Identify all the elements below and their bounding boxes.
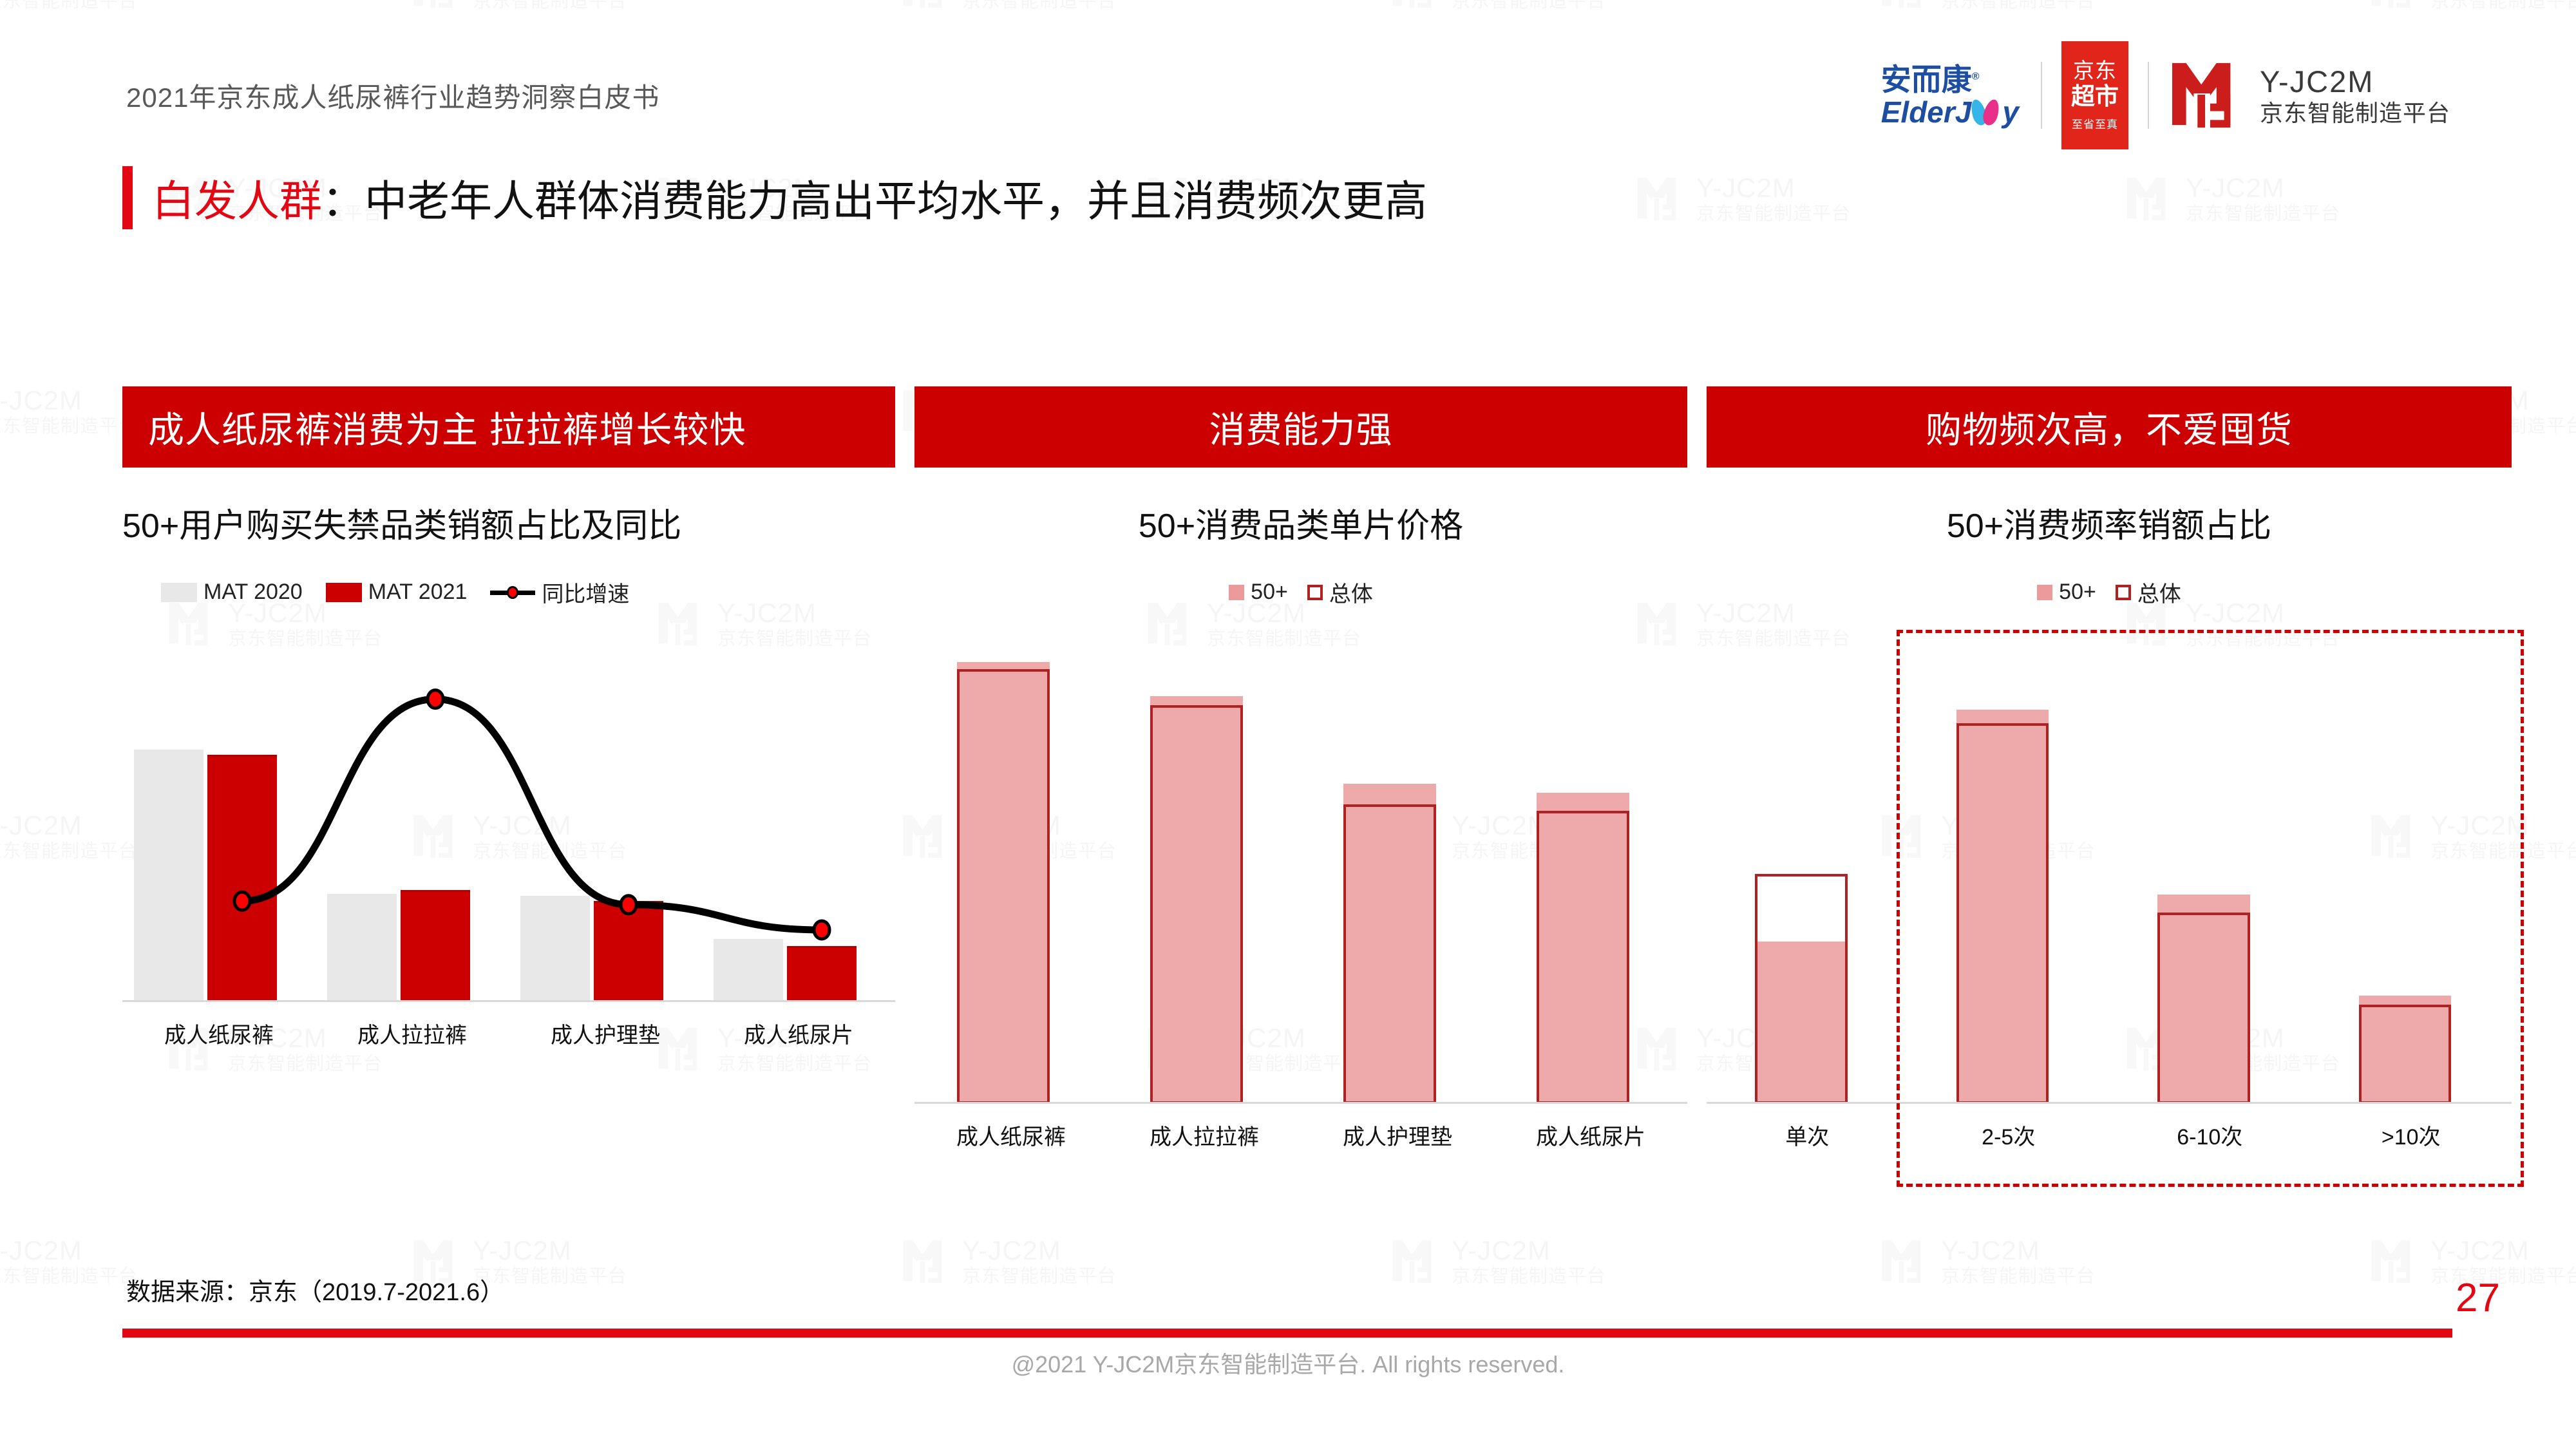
panel3-legend: 50+ 总体 bbox=[1707, 576, 2512, 608]
registered-trademark-icon: ® bbox=[1972, 71, 1980, 82]
legend-label-50plus-p3: 50+ bbox=[2059, 580, 2096, 605]
yjc2m-logo-text: Y-JC2M 京东智能制造平台 bbox=[2260, 66, 2450, 125]
copyright-note: @2021 Y-JC2M京东智能制造平台. All rights reserve… bbox=[0, 1346, 2576, 1379]
watermark-tile: Y-JC2M京东智能制造平台 bbox=[0, 1236, 138, 1287]
yjc2m-logo-line1: Y-JC2M bbox=[2260, 66, 2450, 97]
elderjoy-logo-cn: 安而康® bbox=[1881, 64, 2019, 95]
elderjoy-logo: 安而康® ElderJy bbox=[1881, 58, 2041, 133]
watermark-tile: Y-JC2M京东智能制造平台 bbox=[1636, 174, 1851, 224]
joy-swirl-icon bbox=[1972, 98, 2002, 126]
jd-logo-line1: 京东 bbox=[2073, 59, 2117, 82]
legend-item-50plus-p3: 50+ bbox=[2037, 580, 2096, 605]
chart-1-growth-line bbox=[122, 641, 895, 1002]
logo-divider-1 bbox=[2041, 62, 2042, 129]
panel2-legend: 50+ 总体 bbox=[914, 576, 1687, 608]
logo-divider-2 bbox=[2148, 62, 2149, 129]
chart-2-x-label: 成人纸尿片 bbox=[1494, 1119, 1687, 1151]
chart-3-x-label: 6-10次 bbox=[2109, 1119, 2311, 1151]
chart-2-axis bbox=[914, 1102, 1687, 1104]
hollow-square-icon bbox=[1307, 585, 1323, 600]
chart-2-bars bbox=[914, 653, 1687, 1104]
chart-3 bbox=[1707, 653, 2512, 1104]
logo-group: 安而康® ElderJy 京东 超市 至省至真 bbox=[1881, 57, 2450, 134]
chart-1-x-label: 成人护理垫 bbox=[509, 1018, 702, 1049]
panel-purchase-frequency: 购物频次高，不爱囤货 50+消费频率销额占比 50+ 总体 单次2-5次6-10… bbox=[1707, 386, 2512, 1151]
bar-overall bbox=[1537, 811, 1629, 1104]
chart-2 bbox=[914, 653, 1687, 1104]
panel2-subtitle: 50+消费品类单片价格 bbox=[914, 498, 1687, 547]
bar-overall bbox=[2157, 913, 2250, 1104]
chart-3-x-labels: 单次2-5次6-10次>10次 bbox=[1707, 1119, 2512, 1151]
legend-item-growth: 同比增速 bbox=[490, 576, 629, 608]
headline-text: 白发人群：中老年人群体消费能力高出平均水平，并且消费频次更高 bbox=[152, 167, 1427, 229]
chart-2-group bbox=[914, 653, 1108, 1104]
legend-label-overall-p2: 总体 bbox=[1329, 576, 1373, 608]
chart-3-group bbox=[1707, 653, 1908, 1104]
legend-label-overall-p3: 总体 bbox=[2137, 576, 2181, 608]
panel3-banner: 购物频次高，不爱囤货 bbox=[1707, 386, 2512, 468]
pink-square-icon bbox=[1229, 585, 1244, 600]
chart-3-group bbox=[1908, 653, 2110, 1104]
footer-red-rule bbox=[122, 1329, 2452, 1338]
panel1-banner: 成人纸尿裤消费为主 拉拉裤增长较快 bbox=[122, 386, 895, 468]
panel-unit-price: 消费能力强 50+消费品类单片价格 50+ 总体 成人纸尿裤成人拉拉裤成人护理垫… bbox=[914, 386, 1687, 1151]
watermark-tile: Y-JC2M京东智能制造平台 bbox=[902, 1236, 1117, 1287]
yjc2m-logo-line2: 京东智能制造平台 bbox=[2260, 102, 2450, 125]
headline-highlight: 白发人群 bbox=[152, 177, 322, 225]
bar-overall bbox=[1343, 804, 1436, 1104]
legend-label-mat2020: MAT 2020 bbox=[204, 580, 303, 605]
panel-category-share: 成人纸尿裤消费为主 拉拉裤增长较快 50+用户购买失禁品类销额占比及同比 MAT… bbox=[122, 386, 895, 1049]
panel1-subtitle: 50+用户购买失禁品类销额占比及同比 bbox=[122, 498, 895, 547]
gray-square-icon bbox=[161, 583, 197, 602]
chart-2-group bbox=[1301, 653, 1494, 1104]
chart-3-x-label: 单次 bbox=[1707, 1119, 1908, 1151]
chart-2-group bbox=[1108, 653, 1301, 1104]
watermark-tile: Y-JC2M京东智能制造平台 bbox=[1391, 1236, 1606, 1287]
bar-overall bbox=[957, 669, 1050, 1104]
headline-accent-bar bbox=[122, 166, 133, 229]
legend-label-50plus-p2: 50+ bbox=[1251, 580, 1288, 605]
elderjoy-logo-en: ElderJy bbox=[1881, 97, 2019, 127]
panel3-subtitle: 50+消费频率销额占比 bbox=[1707, 498, 2512, 547]
chart-1-line-marker bbox=[621, 896, 636, 914]
panel1-legend: MAT 2020 MAT 2021 同比增速 bbox=[122, 576, 895, 608]
legend-label-growth: 同比增速 bbox=[542, 576, 629, 608]
panel2-banner: 消费能力强 bbox=[914, 386, 1687, 468]
chart-2-x-label: 成人护理垫 bbox=[1301, 1119, 1494, 1151]
chart-3-x-label: 2-5次 bbox=[1908, 1119, 2110, 1151]
page-header: 2021年京东成人纸尿裤行业趋势洞察白皮书 安而康® ElderJy 京东 超市… bbox=[0, 0, 2576, 148]
red-square-icon bbox=[326, 583, 362, 602]
chart-2-x-label: 成人拉拉裤 bbox=[1108, 1119, 1301, 1151]
bar-overall bbox=[1755, 874, 1848, 1104]
bar-overall bbox=[2359, 1005, 2452, 1104]
page-number: 27 bbox=[2456, 1275, 2500, 1321]
document-title: 2021年京东成人纸尿裤行业趋势洞察白皮书 bbox=[126, 76, 659, 115]
chart-1-line-marker bbox=[428, 690, 443, 708]
slide-headline: 白发人群：中老年人群体消费能力高出平均水平，并且消费频次更高 bbox=[122, 166, 1427, 229]
chart-1 bbox=[122, 641, 895, 1002]
watermark-tile: Y-JC2M京东智能制造平台 bbox=[1880, 1236, 2096, 1287]
bar-overall bbox=[1956, 723, 2049, 1104]
chart-3-group bbox=[2311, 653, 2512, 1104]
line-marker-icon bbox=[490, 583, 535, 602]
chart-2-x-labels: 成人纸尿裤成人拉拉裤成人护理垫成人纸尿片 bbox=[914, 1119, 1687, 1151]
jd-logo-line2: 超市 bbox=[2071, 84, 2119, 109]
chart-1-line-marker bbox=[234, 892, 250, 910]
watermark-tile: Y-JC2M京东智能制造平台 bbox=[0, 811, 138, 862]
legend-item-mat2021: MAT 2021 bbox=[326, 580, 468, 605]
chart-1-x-label: 成人拉拉裤 bbox=[316, 1018, 509, 1049]
chart-2-group bbox=[1494, 653, 1687, 1104]
chart-3-axis bbox=[1707, 1102, 2512, 1104]
chart-3-bars bbox=[1707, 653, 2512, 1104]
chart-2-x-label: 成人纸尿裤 bbox=[914, 1119, 1108, 1151]
legend-item-overall-p2: 总体 bbox=[1307, 576, 1373, 608]
legend-label-mat2021: MAT 2021 bbox=[368, 580, 468, 605]
legend-item-50plus-p2: 50+ bbox=[1229, 580, 1288, 605]
yjc2m-mark-icon bbox=[2170, 59, 2246, 131]
pink-square-icon bbox=[2037, 585, 2052, 600]
chart-1-x-label: 成人纸尿裤 bbox=[122, 1018, 316, 1049]
legend-item-mat2020: MAT 2020 bbox=[161, 580, 303, 605]
chart-1-line-marker bbox=[814, 921, 829, 939]
hollow-square-icon bbox=[2116, 585, 2131, 600]
watermark-tile: Y-JC2M京东智能制造平台 bbox=[0, 386, 138, 437]
chart-3-group bbox=[2109, 653, 2311, 1104]
watermark-tile: Y-JC2M京东智能制造平台 bbox=[2125, 174, 2340, 224]
chart-1-x-labels: 成人纸尿裤成人拉拉裤成人护理垫成人纸尿片 bbox=[122, 1018, 895, 1049]
headline-rest: ：中老年人群体消费能力高出平均水平，并且消费频次更高 bbox=[322, 177, 1427, 225]
chart-1-axis bbox=[122, 1000, 895, 1002]
chart-3-x-label: >10次 bbox=[2311, 1119, 2512, 1151]
yjc2m-logo: Y-JC2M 京东智能制造平台 bbox=[2170, 59, 2450, 131]
jd-logo-line3: 至省至真 bbox=[2072, 115, 2118, 131]
jd-supermarket-logo: 京东 超市 至省至真 bbox=[2061, 41, 2128, 149]
data-source-note: 数据来源：京东（2019.7-2021.6） bbox=[126, 1272, 504, 1307]
bar-overall bbox=[1150, 705, 1243, 1104]
chart-1-x-label: 成人纸尿片 bbox=[702, 1018, 895, 1049]
legend-item-overall-p3: 总体 bbox=[2116, 576, 2181, 608]
